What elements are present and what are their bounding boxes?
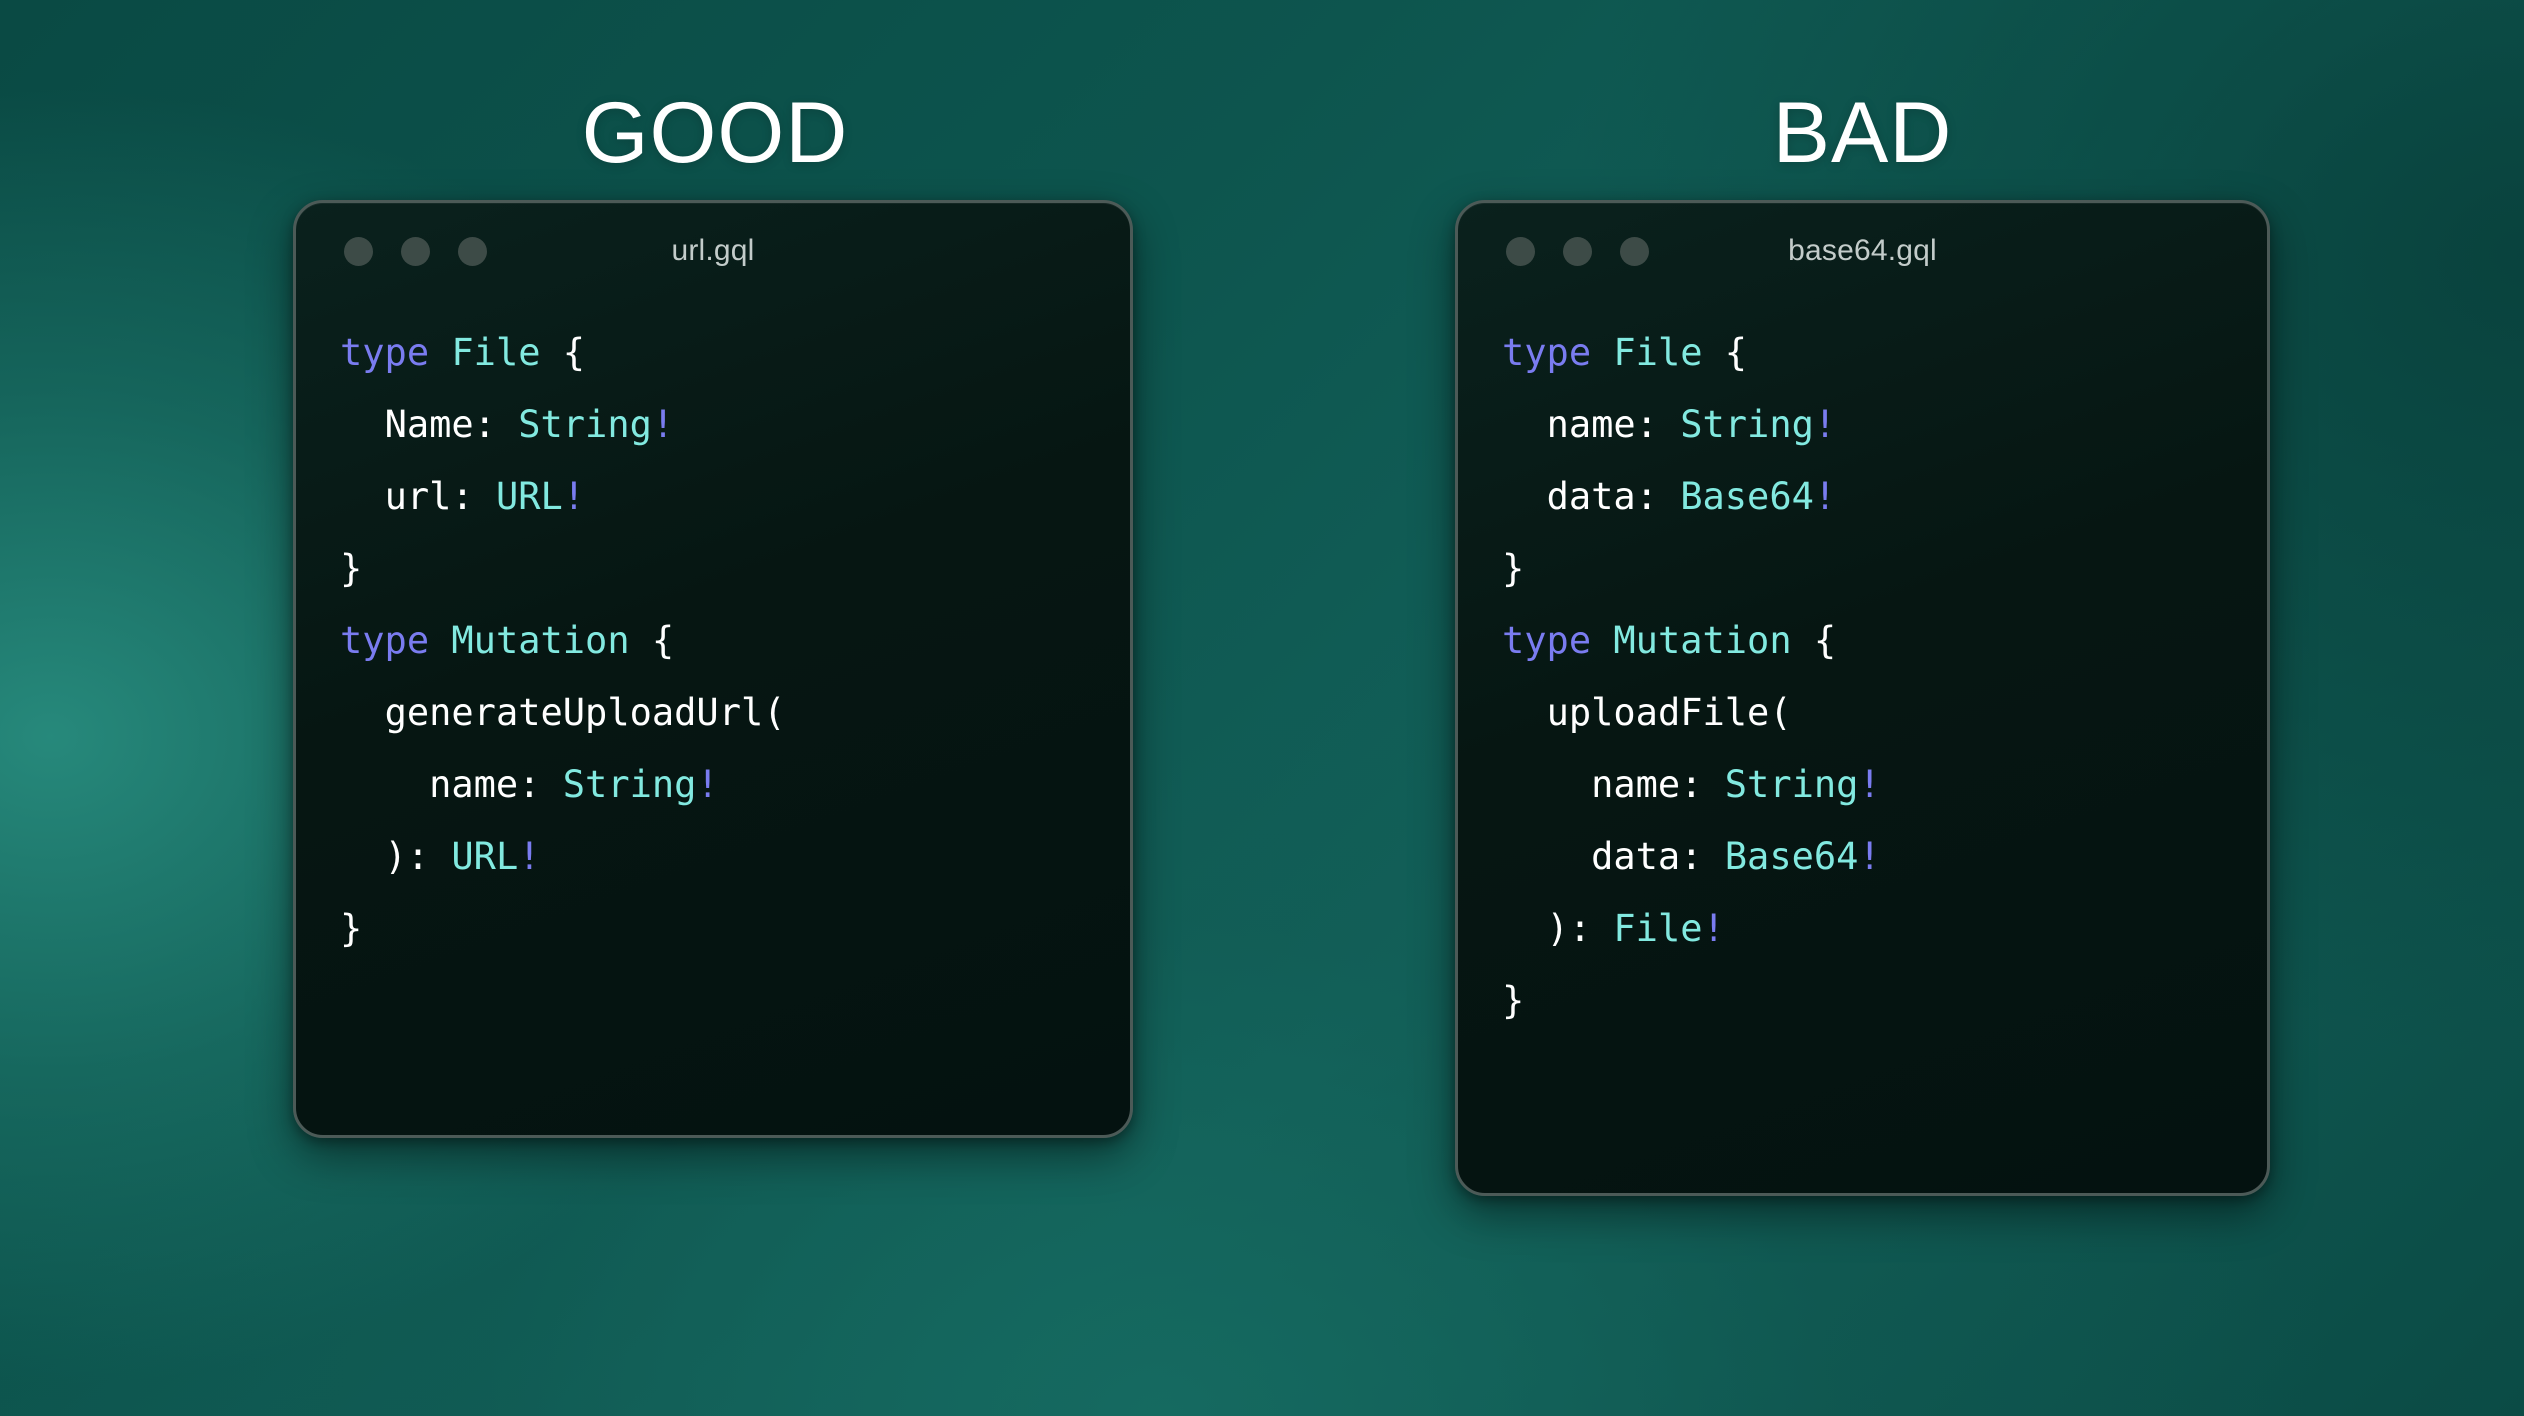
code-token-kw: type bbox=[1502, 331, 1591, 374]
code-token-punc: : bbox=[518, 763, 563, 806]
code-line: } bbox=[296, 533, 1130, 605]
code-token-punc bbox=[340, 475, 385, 518]
window-titlebar-bad: base64.gql bbox=[1458, 203, 2267, 299]
code-token-kw: type bbox=[1502, 619, 1591, 662]
code-token-bang: ! bbox=[1858, 835, 1880, 878]
code-token-bang: ! bbox=[1858, 763, 1880, 806]
code-token-field: name bbox=[1591, 763, 1680, 806]
code-token-field: name bbox=[1547, 403, 1636, 446]
code-token-punc: : bbox=[1680, 835, 1725, 878]
code-line: } bbox=[1458, 965, 2267, 1037]
code-token-punc: : bbox=[1680, 763, 1725, 806]
code-line: name: String! bbox=[296, 749, 1130, 821]
code-line: url: URL! bbox=[296, 461, 1130, 533]
code-token-punc bbox=[1502, 835, 1591, 878]
code-line: name: String! bbox=[1458, 389, 2267, 461]
code-token-punc: : bbox=[451, 475, 496, 518]
code-token-bang: ! bbox=[652, 403, 674, 446]
code-token-punc: : bbox=[1636, 475, 1681, 518]
code-line: Name: String! bbox=[296, 389, 1130, 461]
code-token-punc: { bbox=[1792, 619, 1837, 662]
code-token-punc bbox=[340, 403, 385, 446]
code-token-punc bbox=[340, 691, 385, 734]
code-token-tname: Base64 bbox=[1725, 835, 1859, 878]
code-line: data: Base64! bbox=[1458, 461, 2267, 533]
slide-canvas: GOOD BAD url.gql type File { Name: Strin… bbox=[0, 0, 2524, 1416]
code-line: ): URL! bbox=[296, 821, 1130, 893]
code-line: name: String! bbox=[1458, 749, 2267, 821]
code-token-bang: ! bbox=[1814, 475, 1836, 518]
code-line: generateUploadUrl( bbox=[296, 677, 1130, 749]
code-token-field: Name bbox=[385, 403, 474, 446]
code-token-punc: } bbox=[1502, 547, 1524, 590]
code-block-bad: type File { name: String! data: Base64!}… bbox=[1458, 299, 2267, 1037]
code-line: } bbox=[1458, 533, 2267, 605]
code-token-punc bbox=[1502, 691, 1547, 734]
code-token-punc bbox=[429, 331, 451, 374]
traffic-lights-good bbox=[344, 237, 487, 266]
code-token-field: generateUploadUrl( bbox=[385, 691, 786, 734]
maximize-dot-icon[interactable] bbox=[458, 237, 487, 266]
code-token-punc: : bbox=[474, 403, 519, 446]
code-token-punc bbox=[1502, 763, 1591, 806]
minimize-dot-icon[interactable] bbox=[1563, 237, 1592, 266]
code-window-bad: base64.gql type File { name: String! dat… bbox=[1455, 200, 2270, 1196]
code-window-good: url.gql type File { Name: String! url: U… bbox=[293, 200, 1133, 1138]
code-token-punc bbox=[340, 763, 429, 806]
code-line: ): File! bbox=[1458, 893, 2267, 965]
code-token-tname: String bbox=[518, 403, 652, 446]
code-token-kw: type bbox=[340, 619, 429, 662]
code-token-bang: ! bbox=[518, 835, 540, 878]
code-token-punc: ): bbox=[1502, 907, 1613, 950]
code-line: } bbox=[296, 893, 1130, 965]
code-token-tname: URL bbox=[496, 475, 563, 518]
code-token-tname: String bbox=[1725, 763, 1859, 806]
code-token-punc: : bbox=[1636, 403, 1681, 446]
close-dot-icon[interactable] bbox=[344, 237, 373, 266]
code-token-tname: File bbox=[451, 331, 540, 374]
code-token-field: uploadFile( bbox=[1547, 691, 1792, 734]
code-token-field: url bbox=[385, 475, 452, 518]
column-title-good: GOOD bbox=[300, 90, 1130, 176]
close-dot-icon[interactable] bbox=[1506, 237, 1535, 266]
column-title-bad: BAD bbox=[1455, 90, 2270, 176]
code-token-bang: ! bbox=[1814, 403, 1836, 446]
code-line: type File { bbox=[296, 317, 1130, 389]
code-token-field: data bbox=[1591, 835, 1680, 878]
code-line: type Mutation { bbox=[1458, 605, 2267, 677]
code-token-punc bbox=[429, 619, 451, 662]
code-token-punc bbox=[1502, 475, 1547, 518]
code-token-kw: type bbox=[340, 331, 429, 374]
code-token-bang: ! bbox=[696, 763, 718, 806]
code-token-punc: { bbox=[541, 331, 586, 374]
code-token-tname: Mutation bbox=[1613, 619, 1791, 662]
code-token-punc: } bbox=[1502, 979, 1524, 1022]
window-titlebar-good: url.gql bbox=[296, 203, 1130, 299]
code-line: data: Base64! bbox=[1458, 821, 2267, 893]
code-token-tname: URL bbox=[451, 835, 518, 878]
code-token-punc bbox=[1591, 331, 1613, 374]
code-token-punc bbox=[1591, 619, 1613, 662]
code-token-punc: { bbox=[1703, 331, 1748, 374]
code-token-bang: ! bbox=[563, 475, 585, 518]
code-token-bang: ! bbox=[1703, 907, 1725, 950]
code-token-punc: } bbox=[340, 907, 362, 950]
code-token-field: name bbox=[429, 763, 518, 806]
code-line: type File { bbox=[1458, 317, 2267, 389]
minimize-dot-icon[interactable] bbox=[401, 237, 430, 266]
code-token-tname: Mutation bbox=[451, 619, 629, 662]
code-token-tname: File bbox=[1613, 907, 1702, 950]
code-token-tname: String bbox=[563, 763, 697, 806]
maximize-dot-icon[interactable] bbox=[1620, 237, 1649, 266]
code-token-punc: } bbox=[340, 547, 362, 590]
code-token-tname: File bbox=[1613, 331, 1702, 374]
code-line: type Mutation { bbox=[296, 605, 1130, 677]
code-token-punc: { bbox=[630, 619, 675, 662]
code-token-tname: Base64 bbox=[1680, 475, 1814, 518]
code-block-good: type File { Name: String! url: URL!}type… bbox=[296, 299, 1130, 965]
code-token-punc: ): bbox=[340, 835, 451, 878]
traffic-lights-bad bbox=[1506, 237, 1649, 266]
code-token-field: data bbox=[1547, 475, 1636, 518]
code-token-tname: String bbox=[1680, 403, 1814, 446]
code-token-punc bbox=[1502, 403, 1547, 446]
code-line: uploadFile( bbox=[1458, 677, 2267, 749]
